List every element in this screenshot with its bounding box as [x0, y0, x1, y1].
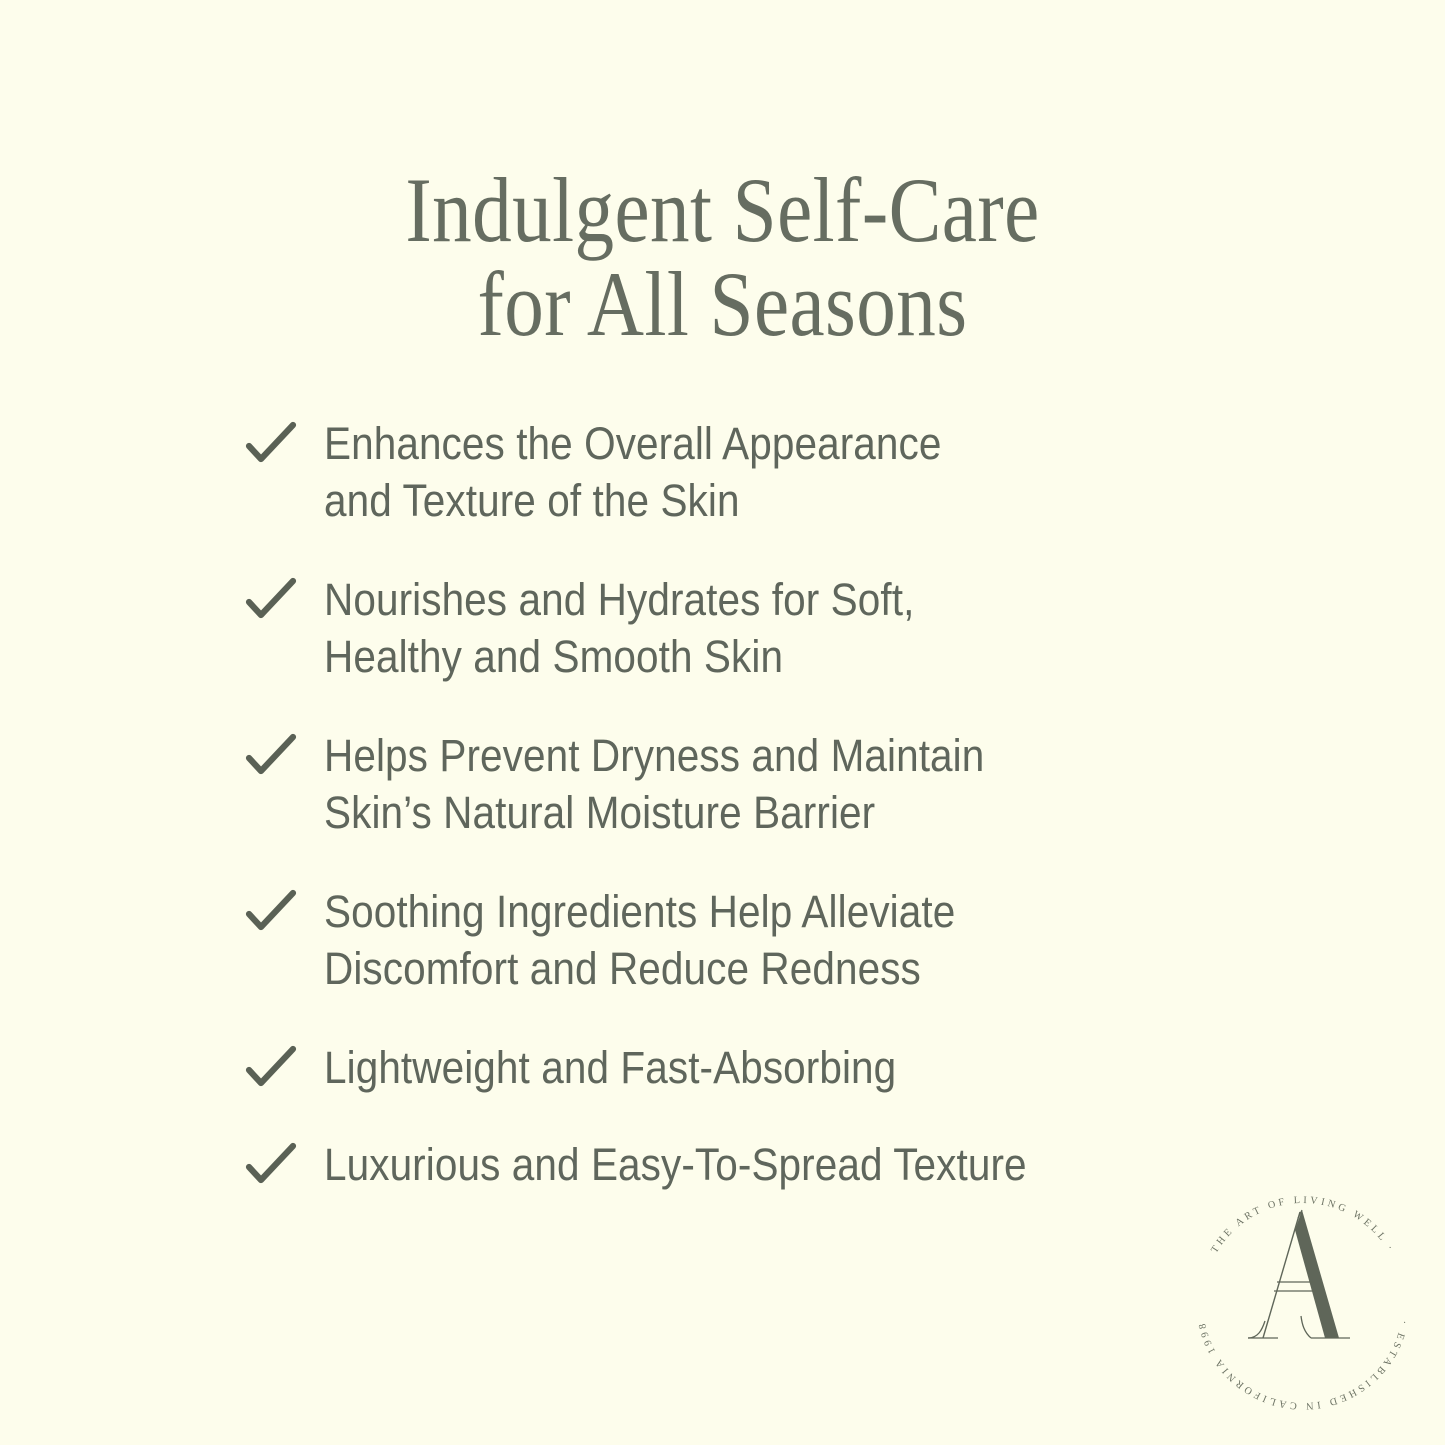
seal-monogram-a — [1248, 1210, 1350, 1338]
list-item-label: Enhances the Overall Appearance and Text… — [324, 415, 1112, 529]
seal-ring-text-bottom: · ESTABLISHED IN CALIFORNIA 1998 — [1197, 1319, 1410, 1411]
check-icon — [244, 887, 298, 935]
check-icon — [244, 1043, 298, 1091]
check-icon — [244, 1140, 298, 1188]
list-item: Lightweight and Fast-Absorbing — [240, 1039, 1200, 1096]
list-item-label: Lightweight and Fast-Absorbing — [324, 1039, 1112, 1096]
list-item: Nourishes and Hydrates for Soft, Healthy… — [240, 571, 1200, 685]
brand-seal-logo: THE ART OF LIVING WELL · · ESTABLISHED I… — [1178, 1178, 1428, 1428]
promo-card: Indulgent Self-Care for All Seasons Enha… — [0, 0, 1445, 1445]
check-icon — [244, 731, 298, 779]
page-title-line-2: for All Seasons — [101, 257, 1344, 351]
page-title-line-1: Indulgent Self-Care — [101, 163, 1344, 257]
list-item-label: Luxurious and Easy-To-Spread Texture — [324, 1136, 1112, 1193]
list-item: Luxurious and Easy-To-Spread Texture — [240, 1136, 1200, 1193]
list-item: Soothing Ingredients Help Alleviate Disc… — [240, 883, 1200, 997]
list-item: Helps Prevent Dryness and Maintain Skin’… — [240, 727, 1200, 841]
check-icon — [244, 575, 298, 623]
page-title: Indulgent Self-Care for All Seasons — [0, 163, 1445, 351]
benefits-list: Enhances the Overall Appearance and Text… — [240, 415, 1200, 1233]
list-item-label: Nourishes and Hydrates for Soft, Healthy… — [324, 571, 1112, 685]
list-item-label: Helps Prevent Dryness and Maintain Skin’… — [324, 727, 1112, 841]
check-icon — [244, 419, 298, 467]
list-item: Enhances the Overall Appearance and Text… — [240, 415, 1200, 529]
list-item-label: Soothing Ingredients Help Alleviate Disc… — [324, 883, 1112, 997]
